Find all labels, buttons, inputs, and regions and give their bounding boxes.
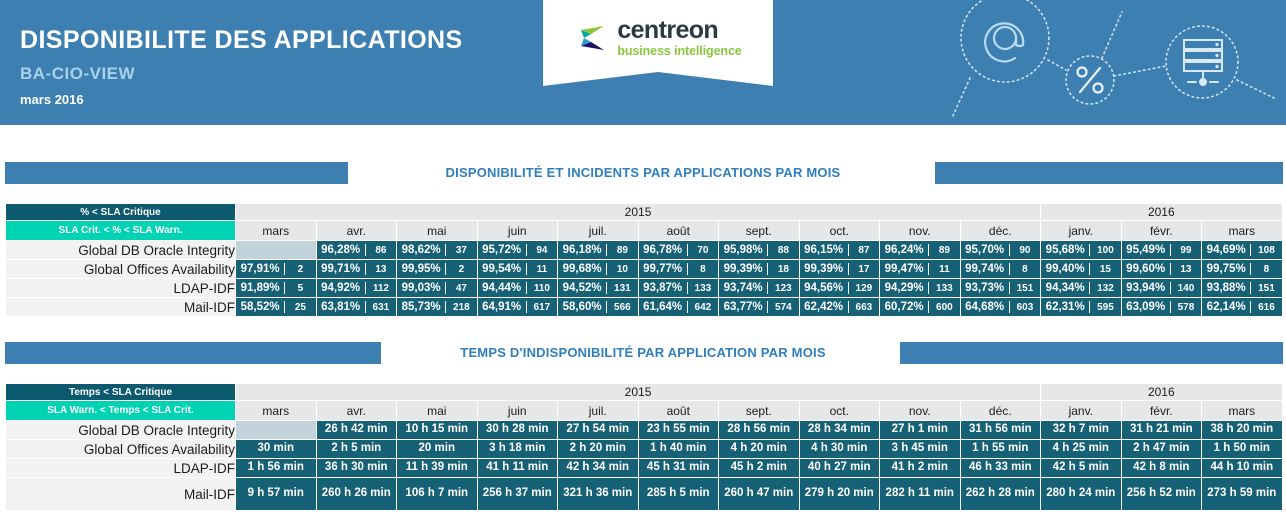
availability-percent: 95,70% <box>961 244 1010 256</box>
availability-cell: 91,89%5 <box>236 279 317 298</box>
availability-percent: 99,39% <box>719 263 768 275</box>
availability-percent: 96,18% <box>558 244 607 256</box>
incident-count: 631 <box>366 302 396 313</box>
incident-count: 617 <box>527 302 557 313</box>
downtime-cell: 1 h 40 min <box>638 440 719 459</box>
no-data-cell <box>236 421 317 440</box>
month-header: avr. <box>316 221 397 241</box>
availability-cell: 64,68%603 <box>960 298 1041 317</box>
month-header: avr. <box>316 401 397 421</box>
downtime-cell: 38 h 20 min <box>1202 421 1283 440</box>
downtime-cell: 42 h 8 min <box>1121 459 1202 478</box>
month-header: févr. <box>1121 221 1202 241</box>
availability-percent: 95,72% <box>478 244 527 256</box>
application-name: Mail-IDF <box>6 298 236 317</box>
availability-percent: 96,24% <box>880 244 929 256</box>
downtime-cell: 40 h 27 min <box>799 459 880 478</box>
availability-percent: 63,77% <box>719 301 768 313</box>
downtime-cell: 9 h 57 min <box>236 478 317 511</box>
month-header: janv. <box>1041 401 1122 421</box>
downtime-cell: 28 h 34 min <box>799 421 880 440</box>
month-header: mai <box>397 401 478 421</box>
downtime-cell: 11 h 39 min <box>397 459 478 478</box>
availability-cell: 99,60%13 <box>1121 260 1202 279</box>
availability-cell: 96,78%70 <box>638 241 719 260</box>
month-header: juin <box>477 401 558 421</box>
downtime-cell: 256 h 52 min <box>1121 478 1202 511</box>
availability-cell: 64,91%617 <box>477 298 558 317</box>
availability-cell: 63,81%631 <box>316 298 397 317</box>
downtime-cell: 32 h 7 min <box>1041 421 1122 440</box>
legend-warning: SLA Crit. < % < SLA Warn. <box>6 221 236 241</box>
availability-cell: 99,03%47 <box>397 279 478 298</box>
year-header: 2015 <box>236 204 1041 221</box>
legend-critical: % < SLA Critique <box>6 204 236 221</box>
availability-cell: 95,70%90 <box>960 241 1041 260</box>
incident-count: 642 <box>688 302 718 313</box>
downtime-cell: 279 h 20 min <box>799 478 880 511</box>
availability-cell: 95,68%100 <box>1041 241 1122 260</box>
downtime-cell: 1 h 50 min <box>1202 440 1283 459</box>
availability-percent: 94,34% <box>1041 282 1090 294</box>
availability-cell: 94,44%110 <box>477 279 558 298</box>
application-name: Global Offices Availability <box>6 260 236 279</box>
year-header: 2016 <box>1041 204 1283 221</box>
incident-count: 218 <box>446 302 476 313</box>
section-heading-text: DISPONIBILITÉ ET INCIDENTS PAR APPLICATI… <box>0 162 1286 184</box>
downtime-cell: 282 h 11 min <box>880 478 961 511</box>
incident-count: 603 <box>1010 302 1040 313</box>
incident-count: 18 <box>768 264 798 275</box>
availability-cell: 95,49%99 <box>1121 241 1202 260</box>
month-header: janv. <box>1041 221 1122 241</box>
incident-count: 112 <box>366 283 396 294</box>
incident-count: 600 <box>929 302 959 313</box>
availability-cell: 93,73%151 <box>960 279 1041 298</box>
availability-cell: 96,15%87 <box>799 241 880 260</box>
downtime-cell: 31 h 21 min <box>1121 421 1202 440</box>
availability-percent: 97,91% <box>236 263 285 275</box>
incident-count: 100 <box>1090 245 1120 256</box>
downtime-cell: 321 h 36 min <box>558 478 639 511</box>
downtime-table: Temps < SLA Critique20152016SLA Warn. < … <box>5 383 1283 511</box>
incident-count: 133 <box>929 283 959 294</box>
availability-percent: 99,77% <box>639 263 688 275</box>
month-header: mai <box>397 221 478 241</box>
availability-percent: 60,72% <box>880 301 929 313</box>
availability-percent: 99,47% <box>880 263 929 275</box>
availability-percent: 64,91% <box>478 301 527 313</box>
incident-count: 11 <box>929 264 959 275</box>
availability-cell: 94,52%131 <box>558 279 639 298</box>
availability-cell: 96,24%89 <box>880 241 961 260</box>
availability-percent: 94,52% <box>558 282 607 294</box>
incident-count: 10 <box>607 264 637 275</box>
page-subtitle: BA-CIO-VIEW <box>20 64 135 84</box>
availability-percent: 95,98% <box>719 244 768 256</box>
availability-percent: 58,52% <box>236 301 285 313</box>
incident-count: 90 <box>1010 245 1040 256</box>
availability-cell: 94,56%129 <box>799 279 880 298</box>
downtime-cell: 44 h 10 min <box>1202 459 1283 478</box>
incident-count: 110 <box>527 283 557 294</box>
availability-percent: 99,54% <box>478 263 527 275</box>
availability-cell: 97,91%2 <box>236 260 317 279</box>
availability-percent: 99,40% <box>1041 263 1090 275</box>
decorative-network-graphic <box>930 0 1286 125</box>
availability-cell: 99,71%13 <box>316 260 397 279</box>
downtime-cell: 31 h 56 min <box>960 421 1041 440</box>
availability-percent: 94,44% <box>478 282 527 294</box>
month-header: déc. <box>960 401 1041 421</box>
availability-cell: 96,28%86 <box>316 241 397 260</box>
incident-count: 37 <box>446 245 476 256</box>
downtime-cell: 27 h 54 min <box>558 421 639 440</box>
incident-count: 2 <box>285 264 315 275</box>
incident-count: 151 <box>1010 283 1040 294</box>
availability-percent: 99,39% <box>800 263 849 275</box>
incident-count: 13 <box>1171 264 1201 275</box>
downtime-cell: 4 h 20 min <box>719 440 800 459</box>
downtime-cell: 2 h 20 min <box>558 440 639 459</box>
incident-count: 2 <box>446 264 476 275</box>
availability-percent: 96,15% <box>800 244 849 256</box>
availability-cell: 99,95%2 <box>397 260 478 279</box>
availability-percent: 94,69% <box>1202 244 1251 256</box>
availability-cell: 63,09%578 <box>1121 298 1202 317</box>
section-title-availability: DISPONIBILITÉ ET INCIDENTS PAR APPLICATI… <box>0 162 1286 184</box>
availability-percent: 95,49% <box>1122 244 1171 256</box>
downtime-cell: 273 h 59 min <box>1202 478 1283 511</box>
availability-percent: 99,68% <box>558 263 607 275</box>
availability-incidents-table: % < SLA Critique20152016SLA Crit. < % < … <box>5 203 1283 317</box>
centreon-logo-plaque: centreon business intelligence <box>543 0 773 72</box>
incident-count: 108 <box>1251 245 1281 256</box>
page-header-banner: DISPONIBILITE DES APPLICATIONS BA-CIO-VI… <box>0 0 1286 125</box>
application-name: Global DB Oracle Integrity <box>6 241 236 260</box>
incident-count: 25 <box>285 302 315 313</box>
availability-cell: 99,74%8 <box>960 260 1041 279</box>
downtime-cell: 280 h 24 min <box>1041 478 1122 511</box>
availability-cell: 85,73%218 <box>397 298 478 317</box>
availability-percent: 94,29% <box>880 282 929 294</box>
centreon-c-mark-icon <box>574 21 608 55</box>
table-row: Global DB Oracle Integrity96,28%8698,62%… <box>6 241 1283 260</box>
logo-tagline: business intelligence <box>617 45 741 58</box>
downtime-cell: 46 h 33 min <box>960 459 1041 478</box>
availability-cell: 99,75%8 <box>1202 260 1283 279</box>
year-header: 2016 <box>1041 384 1283 401</box>
table-row: Mail-IDF9 h 57 min260 h 26 min106 h 7 mi… <box>6 478 1283 511</box>
availability-cell: 93,87%133 <box>638 279 719 298</box>
year-header: 2015 <box>236 384 1041 401</box>
availability-cell: 99,77%8 <box>638 260 719 279</box>
table-row: LDAP-IDF1 h 56 min36 h 30 min11 h 39 min… <box>6 459 1283 478</box>
availability-percent: 99,74% <box>961 263 1010 275</box>
availability-cell: 60,72%600 <box>880 298 961 317</box>
availability-cell: 93,94%140 <box>1121 279 1202 298</box>
availability-percent: 91,89% <box>236 282 285 294</box>
incident-count: 132 <box>1090 283 1120 294</box>
downtime-cell: 41 h 2 min <box>880 459 961 478</box>
availability-percent: 85,73% <box>397 301 446 313</box>
availability-cell: 99,39%18 <box>719 260 800 279</box>
downtime-cell: 3 h 18 min <box>477 440 558 459</box>
availability-percent: 99,71% <box>317 263 366 275</box>
downtime-cell: 27 h 1 min <box>880 421 961 440</box>
incident-count: 123 <box>768 283 798 294</box>
month-header: août <box>638 221 719 241</box>
application-name: Global Offices Availability <box>6 440 236 459</box>
page-title: DISPONIBILITE DES APPLICATIONS <box>20 26 463 55</box>
availability-percent: 93,94% <box>1122 282 1171 294</box>
downtime-cell: 260 h 26 min <box>316 478 397 511</box>
incident-count: 11 <box>527 264 557 275</box>
table-row: Mail-IDF58,52%2563,81%63185,73%21864,91%… <box>6 298 1283 317</box>
availability-percent: 63,81% <box>317 301 366 313</box>
section-title-downtime: TEMPS D'INDISPONIBILITÉ PAR APPLICATION … <box>0 342 1286 364</box>
downtime-cell: 285 h 5 min <box>638 478 719 511</box>
at-sign-circle <box>961 0 1049 82</box>
month-header: juil. <box>558 221 639 241</box>
availability-cell: 58,52%25 <box>236 298 317 317</box>
table-row: Global Offices Availability97,91%299,71%… <box>6 260 1283 279</box>
availability-cell: 94,69%108 <box>1202 241 1283 260</box>
availability-percent: 93,73% <box>961 282 1010 294</box>
month-header: nov. <box>880 221 961 241</box>
downtime-cell: 36 h 30 min <box>316 459 397 478</box>
availability-cell: 99,54%11 <box>477 260 558 279</box>
incident-count: 47 <box>446 283 476 294</box>
availability-percent: 99,03% <box>397 282 446 294</box>
month-header: mars <box>1202 401 1283 421</box>
incident-count: 133 <box>688 283 718 294</box>
downtime-cell: 20 min <box>397 440 478 459</box>
incident-count: 566 <box>607 302 637 313</box>
incident-count: 131 <box>607 283 637 294</box>
availability-percent: 94,92% <box>317 282 366 294</box>
availability-cell: 94,92%112 <box>316 279 397 298</box>
month-header: oct. <box>799 401 880 421</box>
incident-count: 70 <box>688 245 718 256</box>
availability-cell: 95,72%94 <box>477 241 558 260</box>
percent-icon <box>1078 68 1103 93</box>
no-data-cell <box>236 241 317 260</box>
incident-count: 94 <box>527 245 557 256</box>
application-name: Global DB Oracle Integrity <box>6 421 236 440</box>
incident-count: 8 <box>1251 264 1281 275</box>
section-heading-text: TEMPS D'INDISPONIBILITÉ PAR APPLICATION … <box>0 342 1286 364</box>
availability-percent: 99,60% <box>1122 263 1171 275</box>
application-name: LDAP-IDF <box>6 459 236 478</box>
incident-count: 140 <box>1171 283 1201 294</box>
availability-percent: 93,87% <box>639 282 688 294</box>
downtime-cell: 1 h 56 min <box>236 459 317 478</box>
downtime-cell: 256 h 37 min <box>477 478 558 511</box>
downtime-cell: 4 h 25 min <box>1041 440 1122 459</box>
availability-percent: 96,78% <box>639 244 688 256</box>
incident-count: 8 <box>688 264 718 275</box>
availability-percent: 64,68% <box>961 301 1010 313</box>
month-header: oct. <box>799 221 880 241</box>
incident-count: 86 <box>366 245 396 256</box>
downtime-cell: 106 h 7 min <box>397 478 478 511</box>
availability-percent: 95,68% <box>1041 244 1090 256</box>
incident-count: 8 <box>1010 264 1040 275</box>
incident-count: 129 <box>849 283 879 294</box>
application-name: LDAP-IDF <box>6 279 236 298</box>
incident-count: 616 <box>1251 302 1281 313</box>
availability-percent: 58,60% <box>558 301 607 313</box>
incident-count: 15 <box>1090 264 1120 275</box>
incident-count: 88 <box>768 245 798 256</box>
availability-percent: 62,14% <box>1202 301 1251 313</box>
incident-count: 5 <box>285 283 315 294</box>
availability-cell: 99,39%17 <box>799 260 880 279</box>
availability-cell: 93,88%151 <box>1202 279 1283 298</box>
downtime-cell: 42 h 5 min <box>1041 459 1122 478</box>
availability-cell: 99,47%11 <box>880 260 961 279</box>
month-header: mars <box>1202 221 1283 241</box>
incident-count: 151 <box>1251 283 1281 294</box>
downtime-cell: 260 h 47 min <box>719 478 800 511</box>
month-header: mars <box>236 221 317 241</box>
downtime-cell: 4 h 30 min <box>799 440 880 459</box>
availability-percent: 99,95% <box>397 263 446 275</box>
month-header: juil. <box>558 401 639 421</box>
availability-cell: 95,98%88 <box>719 241 800 260</box>
availability-cell: 62,31%595 <box>1041 298 1122 317</box>
availability-cell: 94,29%133 <box>880 279 961 298</box>
downtime-cell: 45 h 31 min <box>638 459 719 478</box>
table-row: Global DB Oracle Integrity26 h 42 min10 … <box>6 421 1283 440</box>
legend-warning: SLA Warn. < Temps < SLA Crit. <box>6 401 236 421</box>
incident-count: 89 <box>607 245 637 256</box>
incident-count: 574 <box>768 302 798 313</box>
downtime-cell: 3 h 45 min <box>880 440 961 459</box>
table-row: Global Offices Availability30 min2 h 5 m… <box>6 440 1283 459</box>
downtime-cell: 26 h 42 min <box>316 421 397 440</box>
month-header: mars <box>236 401 317 421</box>
availability-cell: 99,40%15 <box>1041 260 1122 279</box>
downtime-cell: 262 h 28 min <box>960 478 1041 511</box>
availability-cell: 61,64%642 <box>638 298 719 317</box>
incident-count: 99 <box>1171 245 1201 256</box>
availability-percent: 61,64% <box>639 301 688 313</box>
availability-cell: 98,62%37 <box>397 241 478 260</box>
server-rack-icon <box>1184 40 1222 86</box>
availability-percent: 98,62% <box>397 244 446 256</box>
logo-brand-name: centreon <box>617 18 741 43</box>
legend-critical: Temps < SLA Critique <box>6 384 236 401</box>
downtime-cell: 2 h 47 min <box>1121 440 1202 459</box>
availability-cell: 94,34%132 <box>1041 279 1122 298</box>
downtime-cell: 10 h 15 min <box>397 421 478 440</box>
incident-count: 578 <box>1171 302 1201 313</box>
month-header: sept. <box>719 401 800 421</box>
downtime-cell: 23 h 55 min <box>638 421 719 440</box>
availability-cell: 58,60%566 <box>558 298 639 317</box>
at-sign-icon <box>985 23 1023 61</box>
incident-count: 89 <box>929 245 959 256</box>
downtime-cell: 2 h 5 min <box>316 440 397 459</box>
month-header: sept. <box>719 221 800 241</box>
availability-percent: 62,42% <box>800 301 849 313</box>
incident-count: 13 <box>366 264 396 275</box>
availability-percent: 62,31% <box>1041 301 1090 313</box>
availability-percent: 63,09% <box>1122 301 1171 313</box>
downtime-cell: 30 h 28 min <box>477 421 558 440</box>
downtime-cell: 41 h 11 min <box>477 459 558 478</box>
month-header: déc. <box>960 221 1041 241</box>
downtime-cell: 42 h 34 min <box>558 459 639 478</box>
availability-percent: 93,74% <box>719 282 768 294</box>
month-header: juin <box>477 221 558 241</box>
downtime-cell: 45 h 2 min <box>719 459 800 478</box>
month-header: août <box>638 401 719 421</box>
incident-count: 595 <box>1090 302 1120 313</box>
availability-cell: 62,14%616 <box>1202 298 1283 317</box>
availability-cell: 63,77%574 <box>719 298 800 317</box>
incident-count: 17 <box>849 264 879 275</box>
downtime-cell: 28 h 56 min <box>719 421 800 440</box>
availability-percent: 99,75% <box>1202 263 1251 275</box>
incident-count: 663 <box>849 302 879 313</box>
report-period: mars 2016 <box>20 92 84 107</box>
availability-cell: 96,18%89 <box>558 241 639 260</box>
month-header: nov. <box>880 401 961 421</box>
availability-cell: 93,74%123 <box>719 279 800 298</box>
availability-percent: 96,28% <box>317 244 366 256</box>
availability-cell: 99,68%10 <box>558 260 639 279</box>
application-name: Mail-IDF <box>6 478 236 511</box>
availability-percent: 94,56% <box>800 282 849 294</box>
table-row: LDAP-IDF91,89%594,92%11299,03%4794,44%11… <box>6 279 1283 298</box>
downtime-cell: 1 h 55 min <box>960 440 1041 459</box>
availability-percent: 93,88% <box>1202 282 1251 294</box>
month-header: févr. <box>1121 401 1202 421</box>
availability-cell: 62,42%663 <box>799 298 880 317</box>
downtime-cell: 30 min <box>236 440 317 459</box>
incident-count: 87 <box>849 245 879 256</box>
